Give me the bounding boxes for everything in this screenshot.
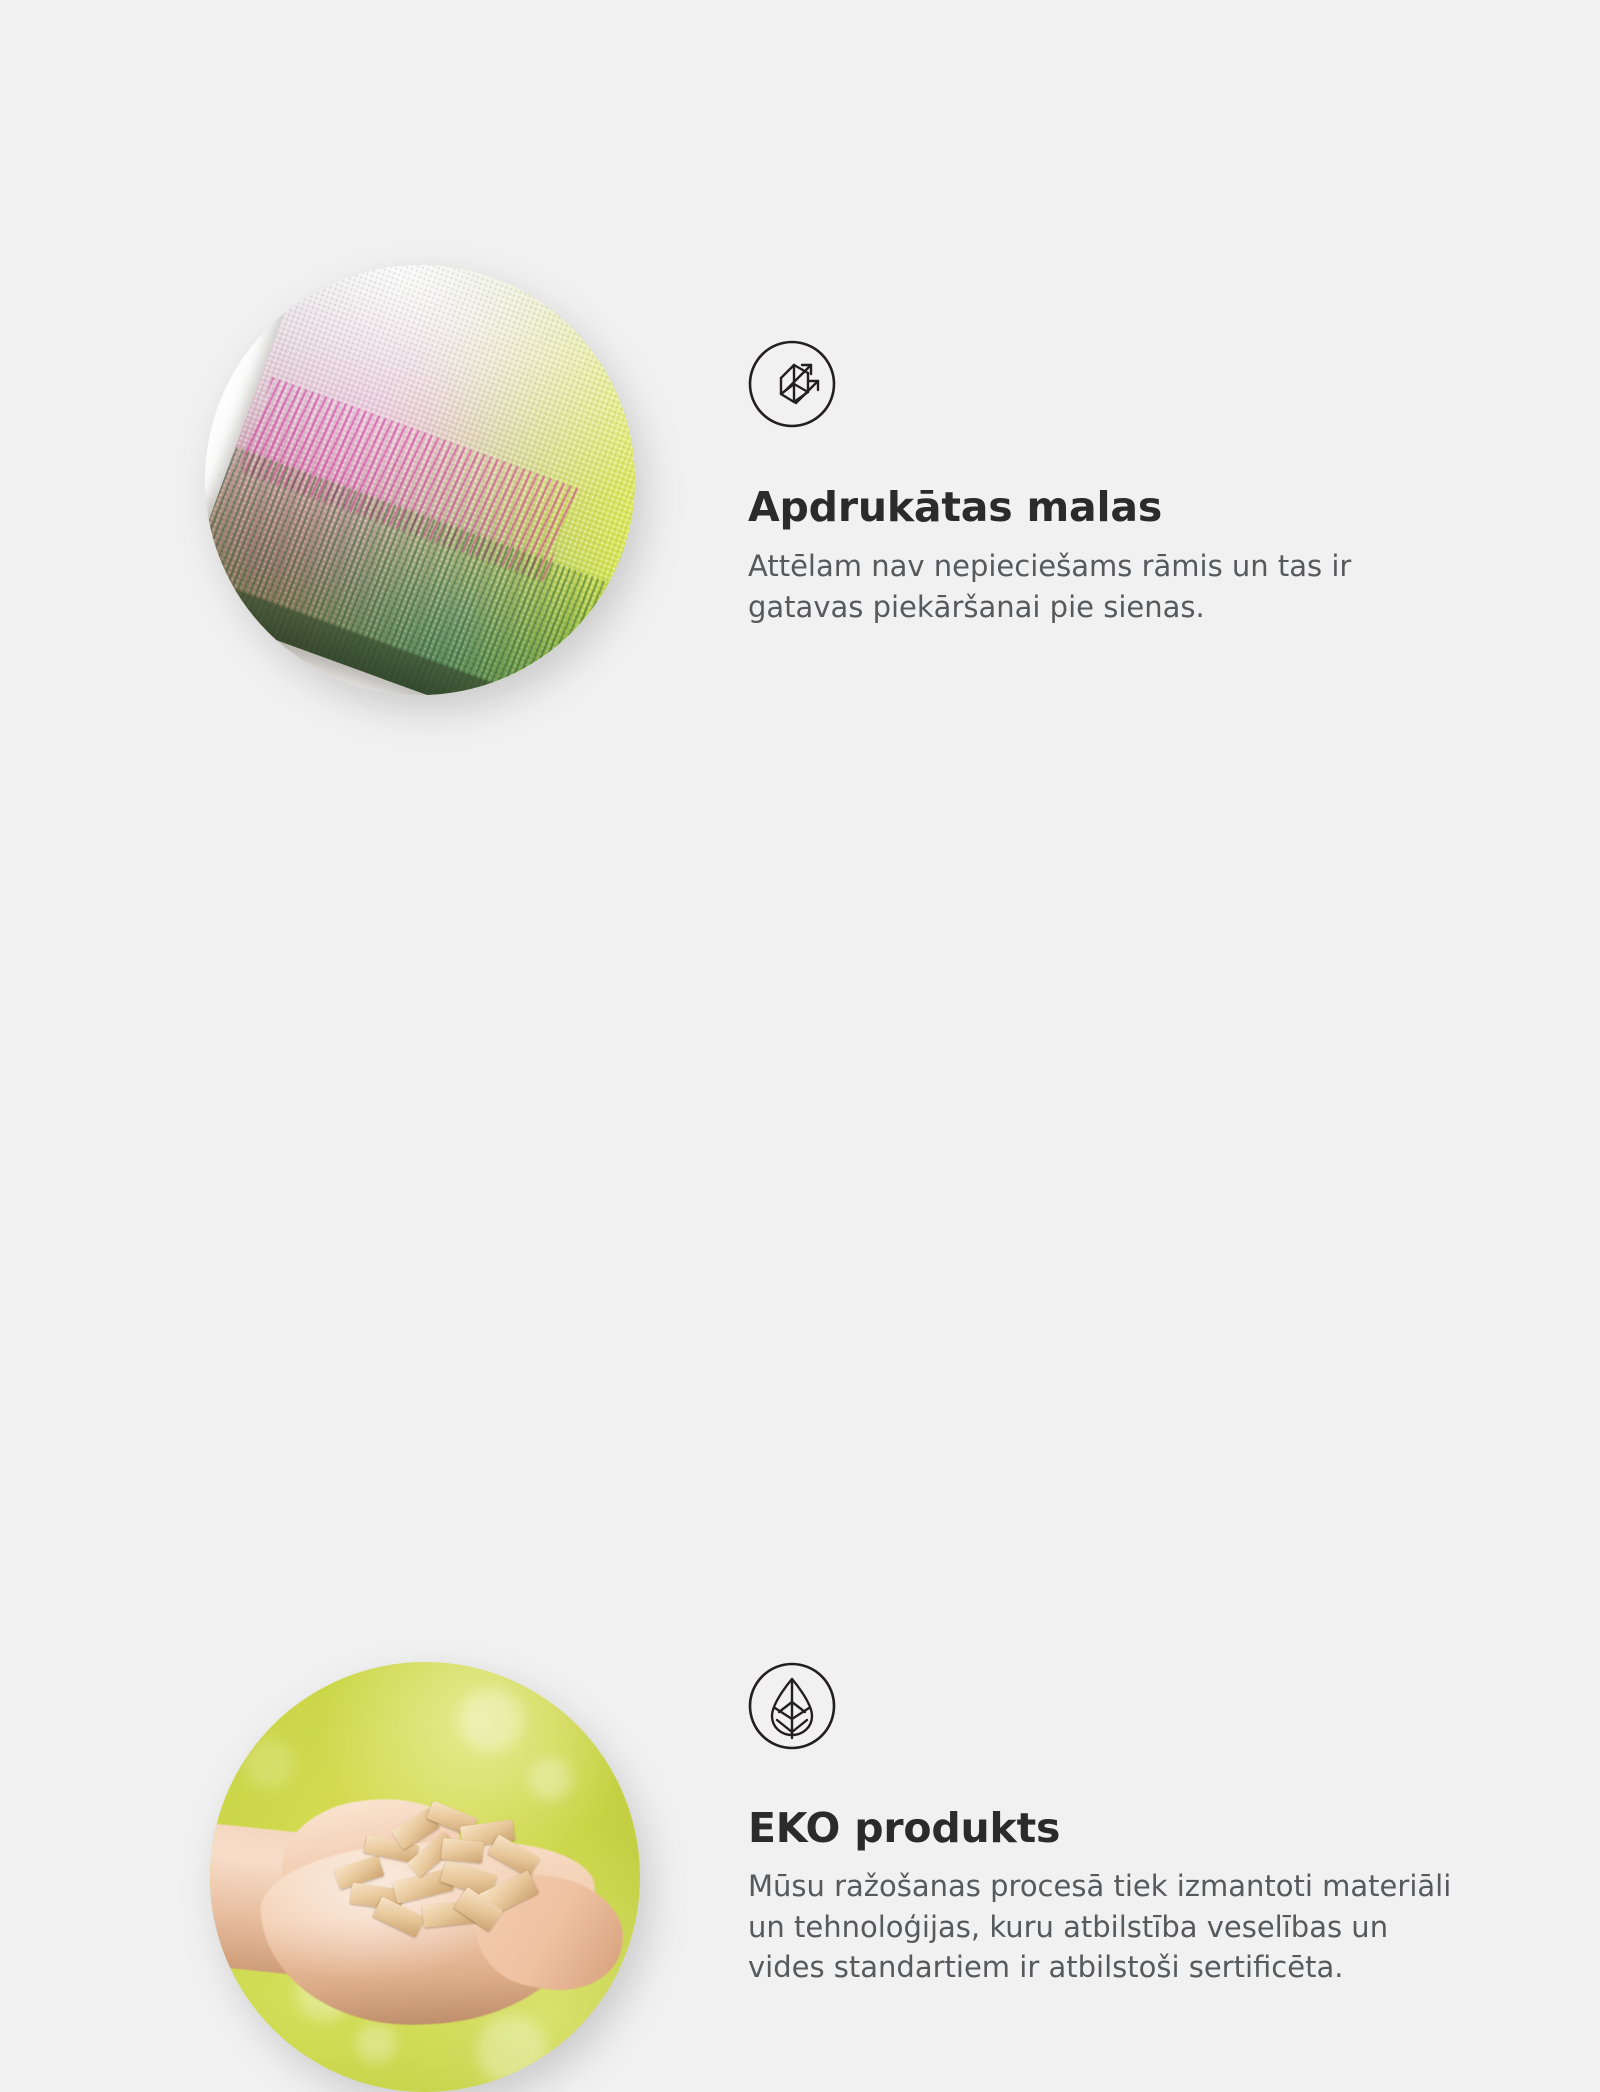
feature-highlights-page: Apdrukātas malas Attēlam nav nepieciešam… [0,0,1600,1600]
bokeh-light [528,1757,572,1801]
bokeh-light [477,2015,547,2085]
eco-photo-inner [210,1662,640,2092]
canvas-print-corner-photo [205,265,635,695]
feature-title-eco-product: EKO produkts [748,1806,1488,1851]
wood-chip-pile [322,1804,563,1942]
feature-description-printed-edges: Attēlam nav nepieciešams rāmis un tas ir… [748,546,1468,627]
feature-block-printed-edges: Apdrukātas malas Attēlam nav nepieciešam… [0,0,1600,800]
feature-block-eco-product: EKO produkts Mūsu ražošanas procesā tiek… [0,800,1600,1600]
feature-description-eco-product: Mūsu ražošanas procesā tiek izmantoti ma… [748,1866,1468,1988]
leaf-icon [748,1662,836,1750]
canvas-wrapped-edges-icon [748,340,836,428]
feature-text-printed-edges: Apdrukātas malas Attēlam nav nepieciešam… [748,340,1488,627]
feature-text-eco-product: EKO produkts Mūsu ražošanas procesā tiek… [748,1662,1488,1988]
hands-holding-wood-chips-photo [210,1662,640,2092]
bokeh-light [459,1688,523,1752]
wood-chip [441,1838,484,1863]
feature-title-printed-edges: Apdrukātas malas [748,485,1488,530]
wood-chip [488,1835,541,1878]
canvas-photo-inner [205,265,635,695]
